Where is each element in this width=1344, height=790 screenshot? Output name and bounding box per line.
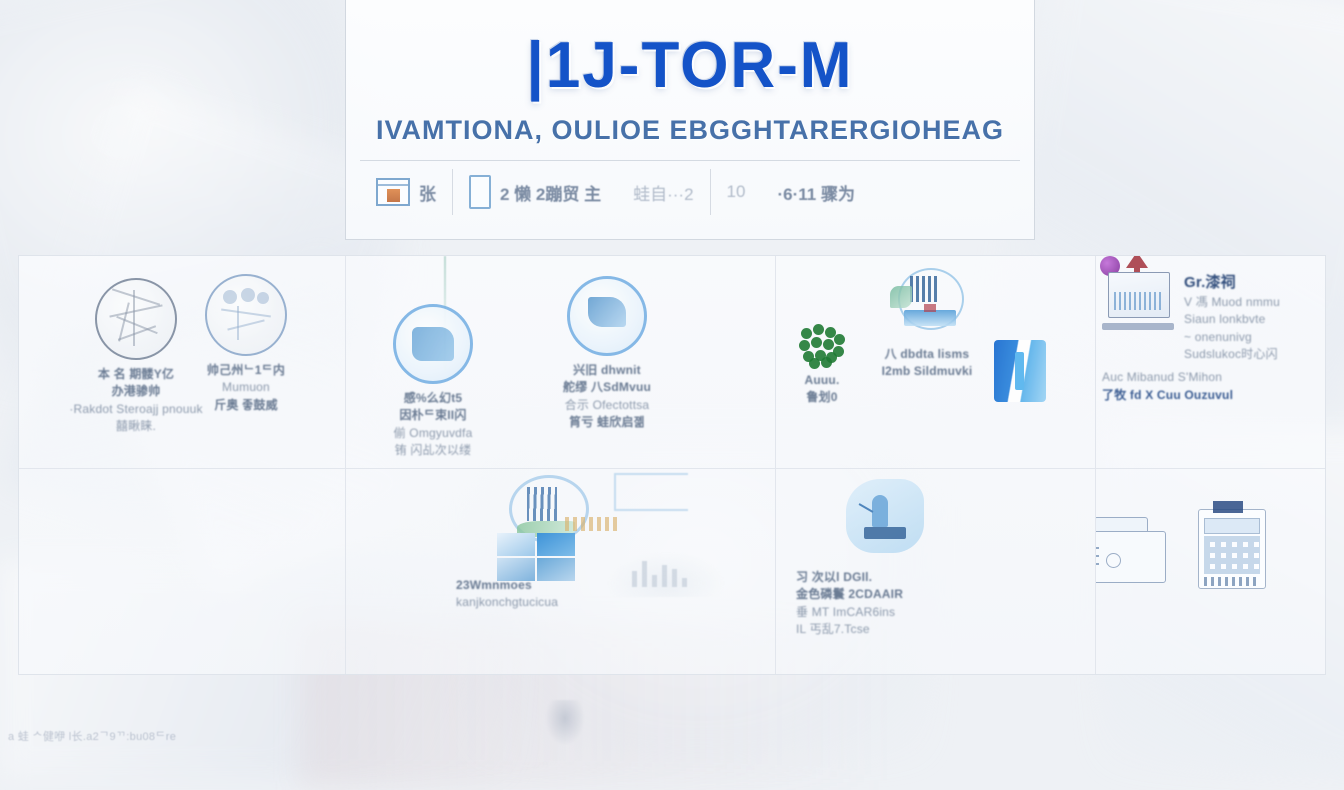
page-subtitle: IVAMTIONA, OULIOE EBGGHTARERGIOHEAG: [376, 115, 1004, 146]
content-caption-secondary: Auc Mibanud S'Mihon 了牧 fd X Cuu Ouzuvul: [1102, 369, 1233, 404]
header-panel: |1J-TOR-M IVAMTIONA, OULIOE EBGGHTARERGI…: [345, 0, 1035, 240]
content-caption: 习 次以l DGIl. 金色磷鬟 2CDAAIR 垂 MT ImCAR6ins …: [796, 569, 976, 639]
toolbar-item-2[interactable]: 蛙自···2: [617, 172, 709, 212]
content-caption: 帅己州ᄂ1ᄃ内 Mumuon 斤奥 좋鼓威: [207, 362, 285, 414]
footer-watermark-icon: [545, 700, 585, 746]
content-grid: 本 名 期髅Y亿 办港骖帅 ·Rakdot Steroajj pnouuk 囍瞅…: [19, 256, 1325, 674]
document-icon: [469, 175, 491, 209]
blue-figure-sketch-icon: [838, 479, 934, 563]
toolbar-item-1[interactable]: 2 懒 2蹦贸 主: [453, 172, 617, 212]
printer-icon: [1096, 517, 1164, 581]
header-toolbar: 张 2 懒 2蹦贸 主 蛙自···2 10 ·6·11 骤为: [360, 163, 1020, 221]
content-item-calculator[interactable]: [1192, 509, 1272, 589]
content-caption: 八 dbdta lisms I2mb Sildmuvki: [882, 346, 973, 381]
content-item-bracket[interactable]: [980, 340, 1060, 402]
grid-cell-r2c3: 习 次以l DGIl. 金色磷鬟 2CDAAIR 垂 MT ImCAR6ins …: [776, 469, 1096, 674]
toolbar-label-1: 2 懒 2蹦贸 主: [500, 180, 601, 205]
blue-bracket-icon: [994, 340, 1046, 402]
grid-cell-r2c2: 23Wmnmoes kanjkonchgtucicua: [346, 469, 776, 674]
content-item-figure[interactable]: 习 次以l DGIl. 金色磷鬟 2CDAAIR 垂 MT ImCAR6ins …: [796, 479, 976, 639]
red-arrow-icon: [1126, 256, 1148, 268]
content-caption: 感%么幻t5 因朴ᄃ束II闪 偂 Omgyuvdfa 铕 闪乩次以缕: [394, 390, 473, 460]
toolbar-label-4: ·6·11 骤为: [777, 180, 854, 205]
content-caption: 兴旧 dhwnit 舵缪 八SdMvuu 合示 Ofectottsa 筲亏 蛙欣…: [563, 362, 651, 432]
toolbar-item-0[interactable]: 张: [360, 172, 452, 212]
content-caption: Auuu. 鲁划0: [805, 372, 840, 407]
cloud-chart-icon: [606, 551, 726, 597]
laptop-purple-arrow-icon: [1102, 272, 1174, 330]
grid-cell-r2c4: [1096, 469, 1325, 674]
content-item-seal-right[interactable]: 帅己州ᄂ1ᄃ内 Mumuon 斤奥 좋鼓威: [171, 274, 321, 414]
grid-cell-r1c2: 感%么幻t5 因朴ᄃ束II闪 偂 Omgyuvdfa 铕 闪乩次以缕 兴旧 dh…: [346, 256, 776, 469]
toolbar-label-3: 10: [727, 182, 746, 202]
blue-blob-icon: [393, 304, 473, 384]
content-item-blob-b[interactable]: 兴旧 dhwnit 舵缪 八SdMvuu 合示 Ofectottsa 筲亏 蛙欣…: [532, 276, 682, 432]
calculator-icon: [1198, 509, 1266, 589]
toolbar-item-4[interactable]: ·6·11 骤为: [761, 172, 870, 212]
content-caption: Gr.漆祠 V 馮 Muod nmmu Siaun lonkbvte ~ one…: [1184, 272, 1280, 363]
main-content-panel: 本 名 期髅Y亿 办港骖帅 ·Rakdot Steroajj pnouuk 囍瞅…: [18, 255, 1326, 675]
grid-cell-r1c3: Auuu. 鲁划0 八 dbdta lisms I2mb Sildmuvki: [776, 256, 1096, 469]
header-divider: [360, 160, 1020, 161]
toolbar-label-0: 张: [419, 180, 436, 205]
green-cluster-icon: [799, 324, 845, 366]
content-item-blob-a[interactable]: 感%么幻t5 因朴ᄃ束II闪 偂 Omgyuvdfa 铕 闪乩次以缕: [358, 304, 508, 460]
grid-cell-r1c1: 本 名 期髅Y亿 办港骖帅 ·Rakdot Steroajj pnouuk 囍瞅…: [19, 256, 346, 469]
grid-cell-r1c4: TI. Nertunqanca 考.汇Fhuliboan. Gr.漆祠: [1096, 256, 1325, 469]
bracket-sketch-icon: [614, 473, 688, 511]
engraved-seal-icon: [95, 278, 177, 360]
content-item-printer[interactable]: [1096, 517, 1170, 581]
blue-circle-sketch-icon: [567, 276, 647, 356]
grid-cell-r2c1: [19, 469, 346, 674]
window-icon: [376, 178, 410, 206]
footer-text: a 蛙 ᄉ健咿 l长.a2ᄀ9ᄁ:bu08ᄃre: [8, 728, 176, 744]
blue-seal-icon: [205, 274, 287, 356]
page-title: |1J-TOR-M: [526, 28, 853, 103]
content-item-laptop[interactable]: Gr.漆祠 V 馮 Muod nmmu Siaun lonkbvte ~ one…: [1102, 272, 1302, 404]
palm-sketch-icon: [491, 475, 611, 571]
toolbar-item-3[interactable]: 10: [711, 172, 762, 212]
toolbar-label-2: 蛙自···2: [633, 180, 693, 205]
blue-chart-sketch-icon: [884, 268, 970, 340]
